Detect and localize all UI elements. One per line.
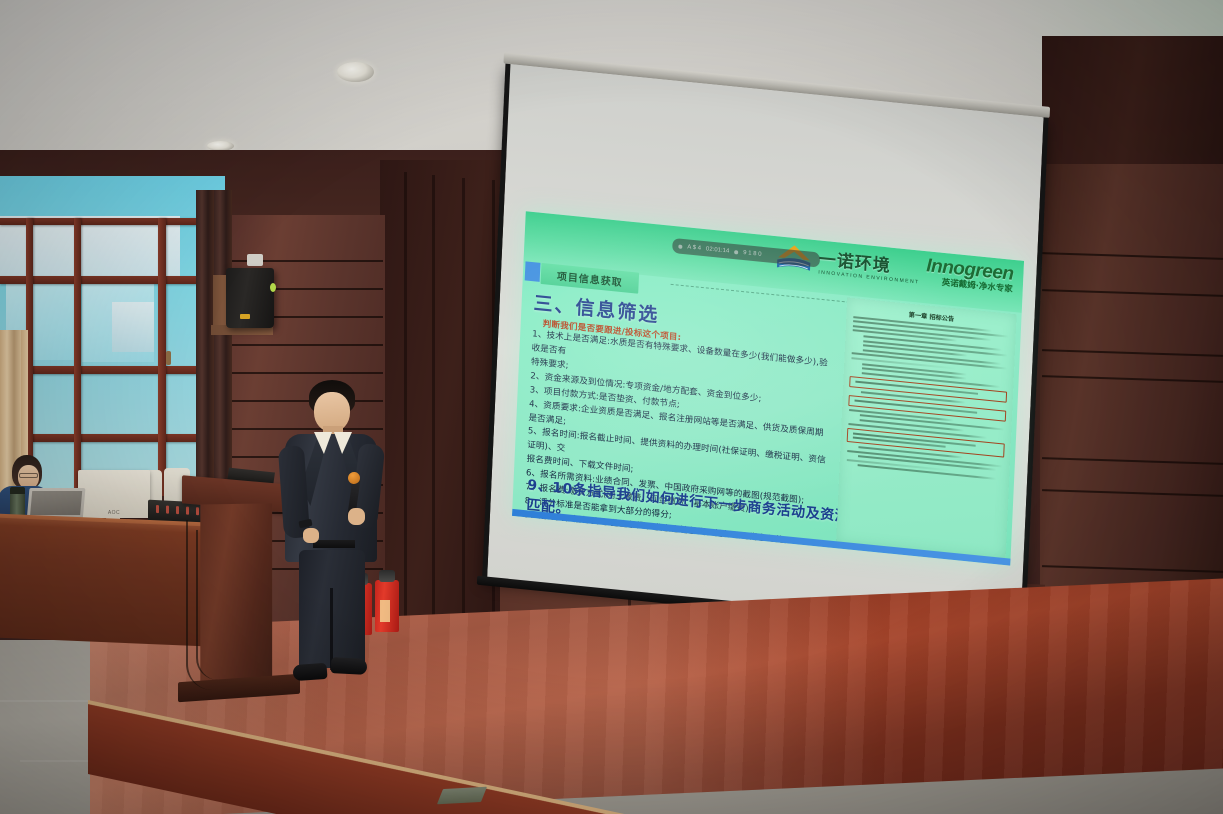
toolbar-dot-icon [734, 250, 738, 254]
presenter-belt [313, 540, 355, 548]
speaker-logo-icon [240, 314, 250, 319]
document-screenshot: 第一章 招标公告 [836, 297, 1017, 559]
toolbar-right-label: 9 1 8 0 [743, 249, 762, 257]
presenter [255, 380, 405, 710]
floor-outlet-cover [437, 787, 487, 805]
window-frame [74, 218, 81, 496]
window-frame [0, 366, 225, 374]
toolbar-label: A $ 4 [687, 244, 701, 251]
wall-speaker [226, 268, 274, 328]
toolbar-time: 02:01:14 [706, 246, 730, 254]
wall-groove [432, 175, 435, 645]
window-frame [0, 218, 225, 225]
speaker-mount [247, 254, 263, 266]
presenter-shoe-left [292, 663, 327, 681]
conference-room-photo: 一诺环境 INNOVATION ENVIRONMENT Innogreen 英诺… [0, 0, 1223, 814]
downlight-icon [337, 62, 374, 82]
outside-building [112, 302, 154, 352]
window-frame [158, 218, 166, 496]
brand-en-block: Innogreen 英诺戴姆·净水专家 [926, 256, 1014, 294]
glasses-icon [19, 473, 38, 478]
cable [196, 530, 218, 680]
control-desk [0, 518, 206, 647]
projection-screen: 一诺环境 INNOVATION ENVIRONMENT Innogreen 英诺… [474, 30, 1054, 655]
window-frame [0, 434, 225, 442]
thermos-cap [10, 487, 25, 494]
brand-cn-block: 一诺环境 INNOVATION ENVIRONMENT [818, 245, 921, 286]
section-tag-accent [525, 261, 541, 281]
speaker-indicator-icon [270, 283, 276, 292]
desk-monitor: AOC [78, 470, 150, 518]
presenter-shoe-right [331, 657, 368, 675]
laptop-screen [30, 491, 82, 515]
curtain-dark [196, 190, 232, 490]
wall-groove [228, 344, 383, 346]
screen-surface: 一诺环境 INNOVATION ENVIRONMENT Innogreen 英诺… [482, 64, 1048, 633]
wall-groove [462, 178, 465, 643]
window-wall [0, 176, 225, 496]
window-frame [0, 276, 225, 284]
wall-panel-right-upper [1042, 36, 1223, 164]
wall-groove [228, 372, 383, 374]
list-item: 键); [522, 551, 822, 566]
brand-logo-group: 一诺环境 INNOVATION ENVIRONMENT Innogreen 英诺… [774, 240, 1014, 295]
presenter-hand-right [348, 508, 365, 525]
presenter-hand-left [303, 528, 319, 543]
window-handle[interactable] [166, 351, 171, 365]
projected-slide: 一诺环境 INNOVATION ENVIRONMENT Innogreen 英诺… [512, 211, 1024, 565]
toolbar-dot-icon [678, 244, 682, 248]
